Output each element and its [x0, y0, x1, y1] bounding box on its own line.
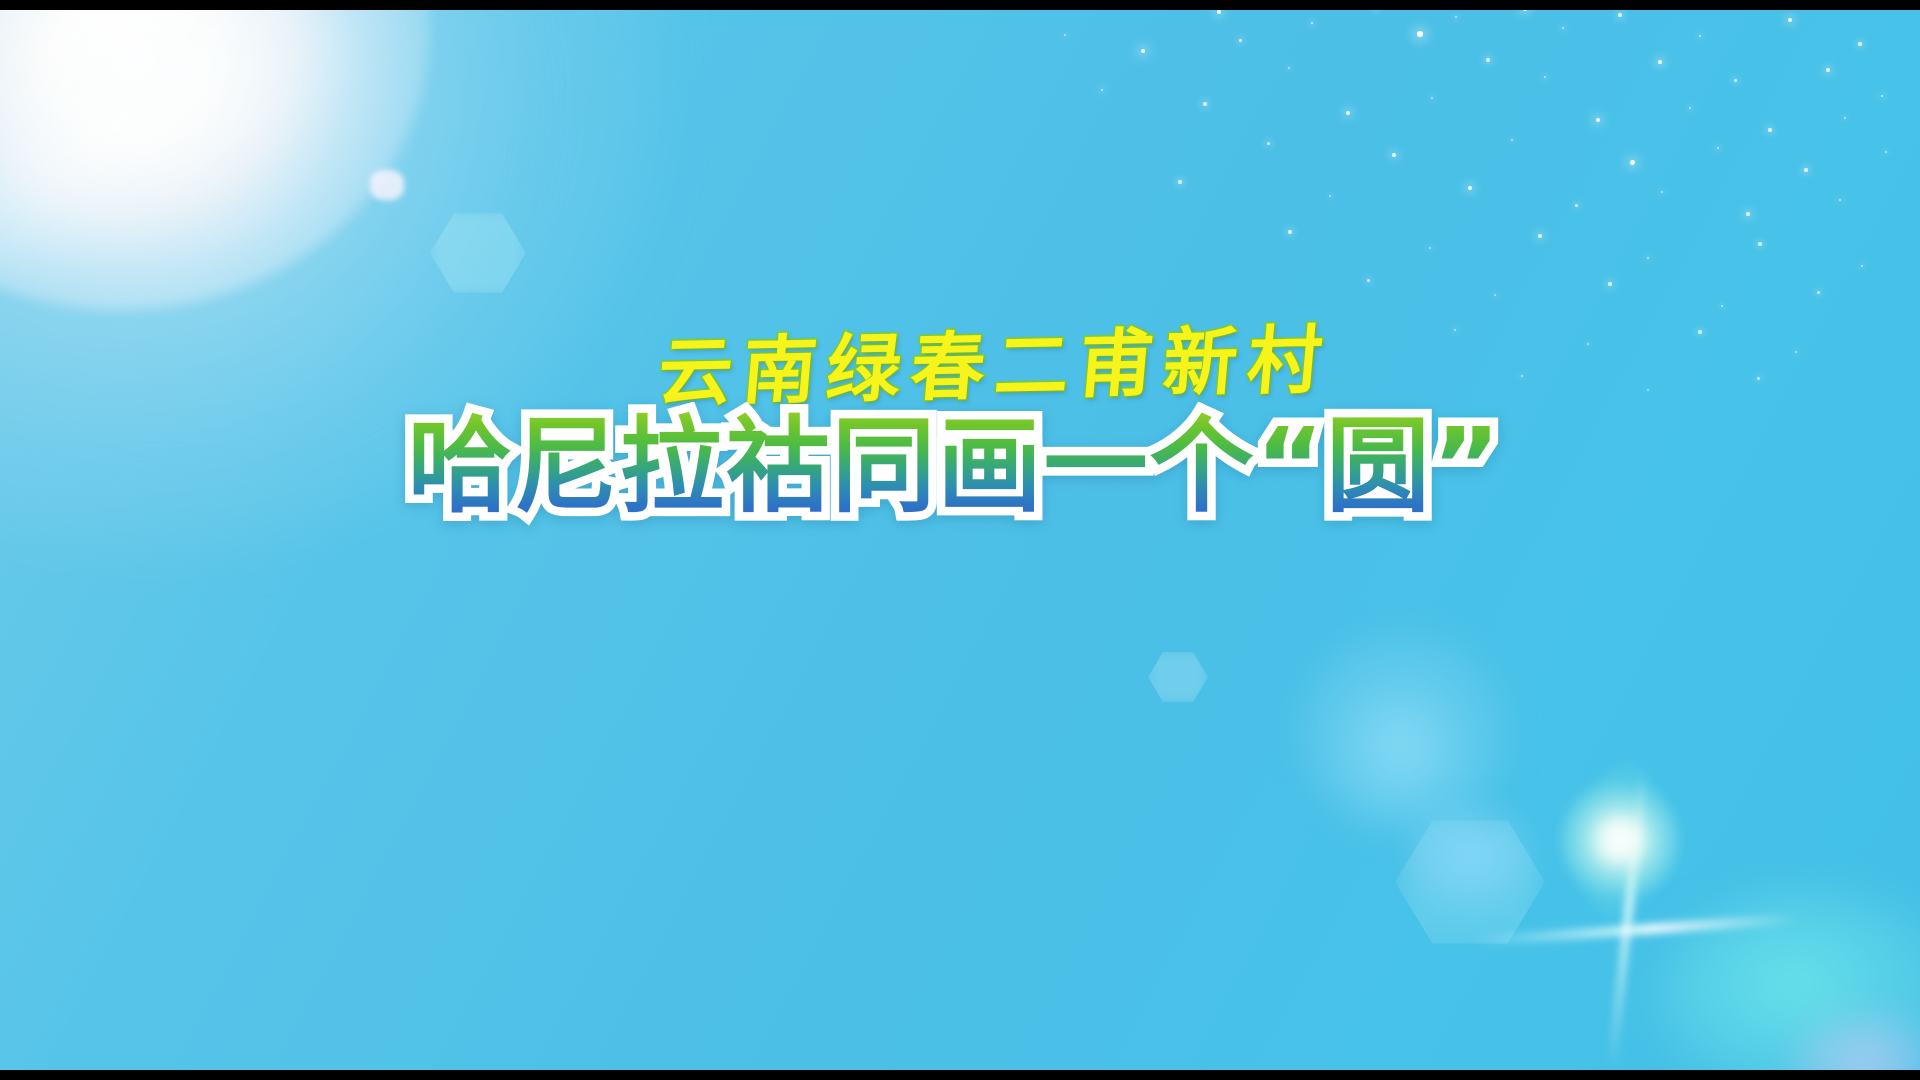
sparkle-particle — [1658, 60, 1662, 64]
sparkle-particle — [1562, 27, 1565, 30]
sky-background — [0, 10, 1920, 1070]
letterbox-bar-top — [0, 0, 1920, 10]
sparkle-particle — [1468, 186, 1472, 190]
sparkle-particle — [1881, 95, 1884, 98]
sparkle-particle — [1630, 160, 1635, 165]
sun-ray-streak — [0, 10, 372, 323]
video-title-card: 云南绿春二甫新村 哈尼拉祜同画一个“圆” 哈尼拉祜同画一个“圆” — [0, 0, 1920, 1080]
sparkle-particle — [1494, 294, 1496, 296]
sparkle-particle — [1511, 139, 1513, 141]
sparkle-particle — [1861, 265, 1864, 268]
bokeh-dot-icon — [370, 170, 404, 200]
sparkle-particle — [1826, 68, 1830, 72]
sparkle-particle — [1608, 282, 1612, 286]
main-title: 哈尼拉祜同画一个“圆” 哈尼拉祜同画一个“圆” — [408, 408, 1503, 524]
sparkle-particle — [1392, 153, 1396, 157]
sparkle-particle — [1486, 58, 1489, 61]
main-title-fill: 哈尼拉祜同画一个“圆” — [408, 405, 1503, 527]
sparkle-particle — [1839, 199, 1842, 202]
sparkle-particle — [1367, 279, 1370, 282]
sparkle-particle — [1329, 195, 1331, 197]
sparkle-particle — [1575, 204, 1578, 207]
sparkle-particle — [1455, 16, 1457, 18]
sparkle-particle — [1288, 230, 1291, 233]
sparkle-particle — [1311, 22, 1314, 25]
sparkle-particle — [1758, 242, 1761, 245]
sparkle-particle — [1538, 234, 1542, 238]
sparkle-particle — [1141, 49, 1146, 54]
sparkle-particle — [1804, 168, 1808, 172]
sparkle-particle — [1203, 102, 1206, 105]
lens-flare-star-core — [1536, 756, 1704, 924]
bokeh-hexagon-icon — [430, 210, 526, 296]
sparkle-particle — [1417, 31, 1422, 36]
sparkle-particle — [1734, 79, 1737, 82]
sparkle-particle — [1431, 97, 1433, 99]
sparkle-particle — [1788, 18, 1792, 22]
sparkle-particle — [1523, 10, 1527, 11]
sparkle-particle — [1689, 107, 1692, 110]
sparkle-particle — [1768, 128, 1771, 131]
sparkle-particle — [1699, 35, 1702, 38]
sparkle-particle — [1217, 10, 1221, 14]
sparkle-particle — [1661, 191, 1664, 194]
sparkle-particle — [1288, 67, 1290, 69]
sparkle-particle — [1618, 13, 1622, 17]
sparkle-particle — [1346, 111, 1350, 115]
sparkle-particle — [1844, 117, 1847, 120]
sparkle-particle — [1717, 147, 1720, 150]
sparkle-particle — [1858, 42, 1861, 45]
title-block: 云南绿春二甫新村 哈尼拉祜同画一个“圆” 哈尼拉祜同画一个“圆” — [0, 330, 1920, 524]
sparkle-particle — [1239, 39, 1242, 42]
sparkle-particle — [1101, 89, 1104, 92]
sparkle-particle — [1429, 247, 1431, 249]
sparkle-particle — [1178, 180, 1181, 183]
sparkle-particle — [1544, 76, 1547, 79]
sparkle-particle — [1596, 118, 1601, 123]
sparkle-particle — [1721, 305, 1724, 308]
sparkle-particle — [1746, 212, 1750, 216]
sparkle-particle — [1647, 257, 1650, 260]
sparkle-particle — [1817, 291, 1820, 294]
sun-core-glow — [0, 10, 430, 310]
sparkle-particle — [1885, 151, 1888, 154]
subtitle-text: 云南绿春二甫新村 — [655, 324, 1335, 411]
sparkle-particle — [1064, 34, 1066, 36]
sparkle-particle — [1267, 142, 1270, 145]
letterbox-bar-bottom — [0, 1070, 1920, 1080]
bokeh-hexagon-icon — [1148, 650, 1208, 704]
lens-flare-blue-ghost — [1405, 800, 1535, 910]
